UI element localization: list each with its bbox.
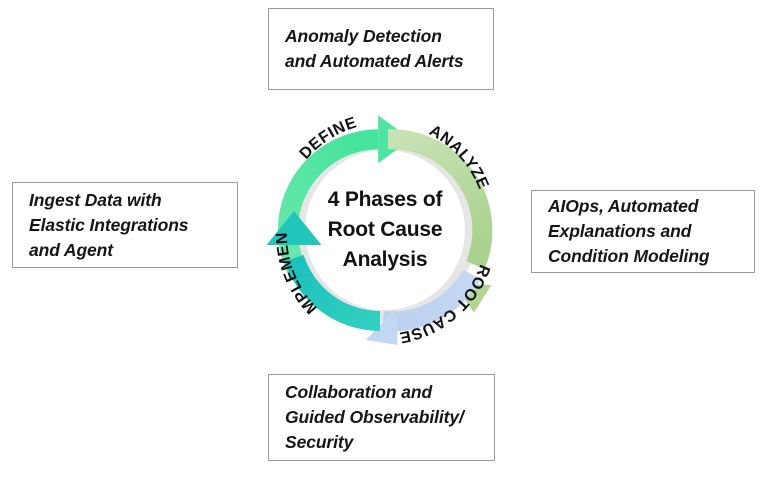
callout-ingest-data: Ingest Data with Elastic Integrations an…: [12, 182, 238, 268]
callout-bottom-line-1: Collaboration and: [285, 380, 480, 405]
callout-bottom-line-2: Guided Observability/: [285, 405, 480, 430]
callout-anomaly-detection: Anomaly Detection and Automated Alerts: [268, 8, 494, 90]
callout-collaboration: Collaboration and Guided Observability/ …: [268, 374, 495, 461]
callout-bottom-line-3: Security: [285, 430, 480, 455]
callout-right-line-2: Explanations and: [548, 219, 740, 244]
root-cause-cycle-wheel: DEFINE ANALYZE ROOT CAUSE IMPLEMENT: [248, 93, 522, 367]
callout-top-line-1: Anomaly Detection: [285, 24, 479, 49]
callout-aiops: AIOps, Automated Explanations and Condit…: [531, 190, 755, 273]
callout-top-line-2: and Automated Alerts: [285, 49, 479, 74]
callout-right-line-1: AIOps, Automated: [548, 194, 740, 219]
callout-left-line-3: and Agent: [29, 238, 223, 263]
center-circle: [305, 150, 465, 310]
callout-left-line-1: Ingest Data with: [29, 188, 223, 213]
diagram-canvas: DEFINE ANALYZE ROOT CAUSE IMPLEMENT 4 Ph…: [0, 0, 768, 477]
callout-right-line-3: Condition Modeling: [548, 244, 740, 269]
callout-left-line-2: Elastic Integrations: [29, 213, 223, 238]
